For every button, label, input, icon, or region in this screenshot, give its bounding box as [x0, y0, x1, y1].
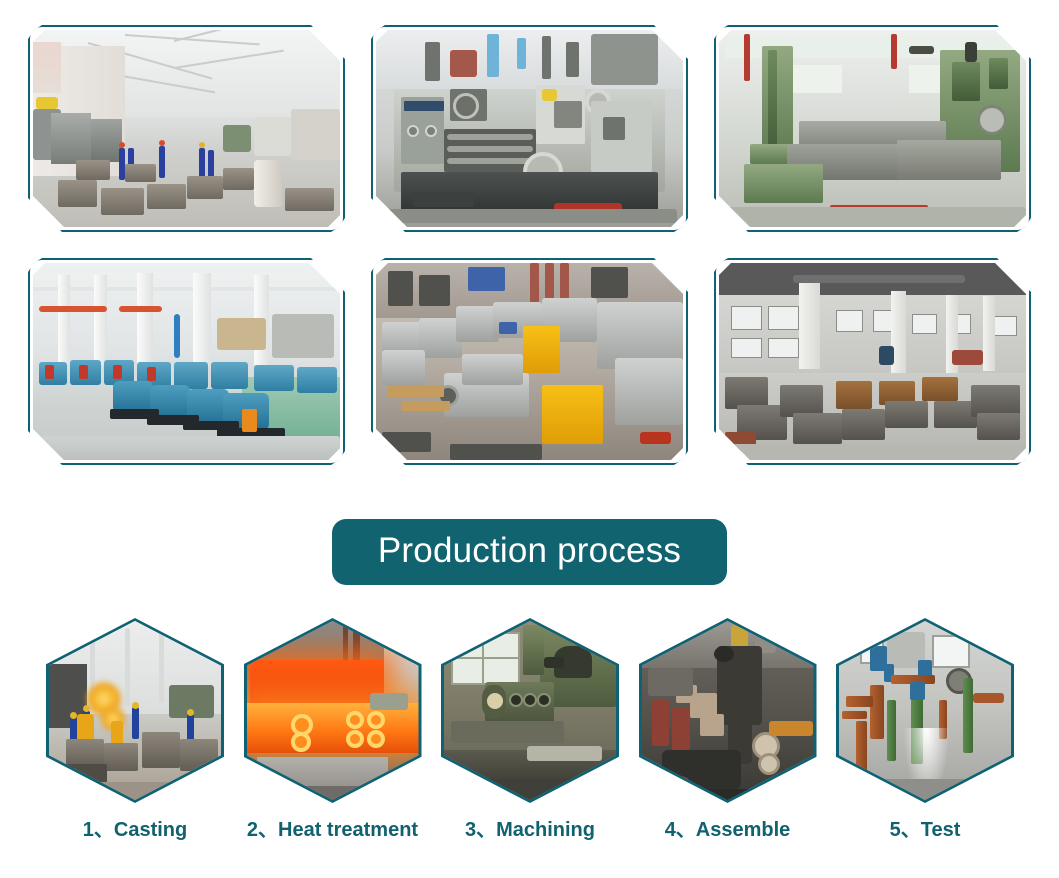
photo-gallery	[28, 25, 1032, 465]
step-label-casting: 1、Casting	[46, 818, 224, 842]
photo-frame-motor-assembly-area[interactable]	[371, 258, 688, 465]
process-step-assemble[interactable]	[639, 618, 817, 803]
process-step-casting[interactable]	[46, 618, 224, 803]
hexagon-frame-test	[836, 618, 1014, 803]
scene-foundry-hall	[33, 30, 340, 227]
photo-heat-treatment	[247, 621, 419, 800]
photo-assemble	[642, 621, 814, 800]
hexagon-frame-heat-treatment	[244, 618, 422, 803]
photo-foundry-hall	[33, 30, 340, 227]
scene-motor-assembly-area	[376, 263, 683, 460]
photo-boring-mill	[719, 30, 1026, 227]
scene-casting-warehouse	[719, 263, 1026, 460]
step-label-machining: 3、Machining	[441, 818, 619, 842]
process-steps	[46, 618, 1014, 803]
scene-pump-assembly-line	[33, 263, 340, 460]
scene-cnc-lathe	[376, 30, 683, 227]
step-label-assemble: 4、Assemble	[639, 818, 817, 842]
photo-frame-pump-assembly-line[interactable]	[28, 258, 345, 465]
photo-frame-casting-warehouse[interactable]	[714, 258, 1031, 465]
page-title: Production process	[332, 519, 727, 585]
hexagon-frame-casting	[46, 618, 224, 803]
photo-pump-assembly-line	[33, 263, 340, 460]
photo-frame-foundry-hall[interactable]	[28, 25, 345, 232]
scene-machining	[444, 621, 616, 800]
photo-motor-assembly-area	[376, 263, 683, 460]
scene-casting	[49, 621, 221, 800]
process-step-labels: 1、Casting 2、Heat treatment 3、Machining 4…	[46, 818, 1014, 842]
step-label-heat-treatment: 2、Heat treatment	[244, 818, 422, 842]
scene-heat-treatment	[247, 621, 419, 800]
photo-frame-cnc-lathe[interactable]	[371, 25, 688, 232]
production-process-page: Production process	[0, 0, 1059, 878]
process-step-machining[interactable]	[441, 618, 619, 803]
photo-test	[839, 621, 1011, 800]
gallery-row-top	[28, 25, 1032, 232]
scene-assemble	[642, 621, 814, 800]
photo-casting-warehouse	[719, 263, 1026, 460]
hexagon-frame-assemble	[639, 618, 817, 803]
photo-frame-boring-mill[interactable]	[714, 25, 1031, 232]
photo-casting	[49, 621, 221, 800]
gallery-row-bottom	[28, 258, 1032, 465]
process-step-heat-treatment[interactable]	[244, 618, 422, 803]
process-step-test[interactable]	[836, 618, 1014, 803]
scene-boring-mill	[719, 30, 1026, 227]
step-label-test: 5、Test	[836, 818, 1014, 842]
scene-test	[839, 621, 1011, 800]
hexagon-frame-machining	[441, 618, 619, 803]
photo-machining	[444, 621, 616, 800]
section-title-wrapper: Production process	[0, 519, 1059, 585]
photo-cnc-lathe	[376, 30, 683, 227]
